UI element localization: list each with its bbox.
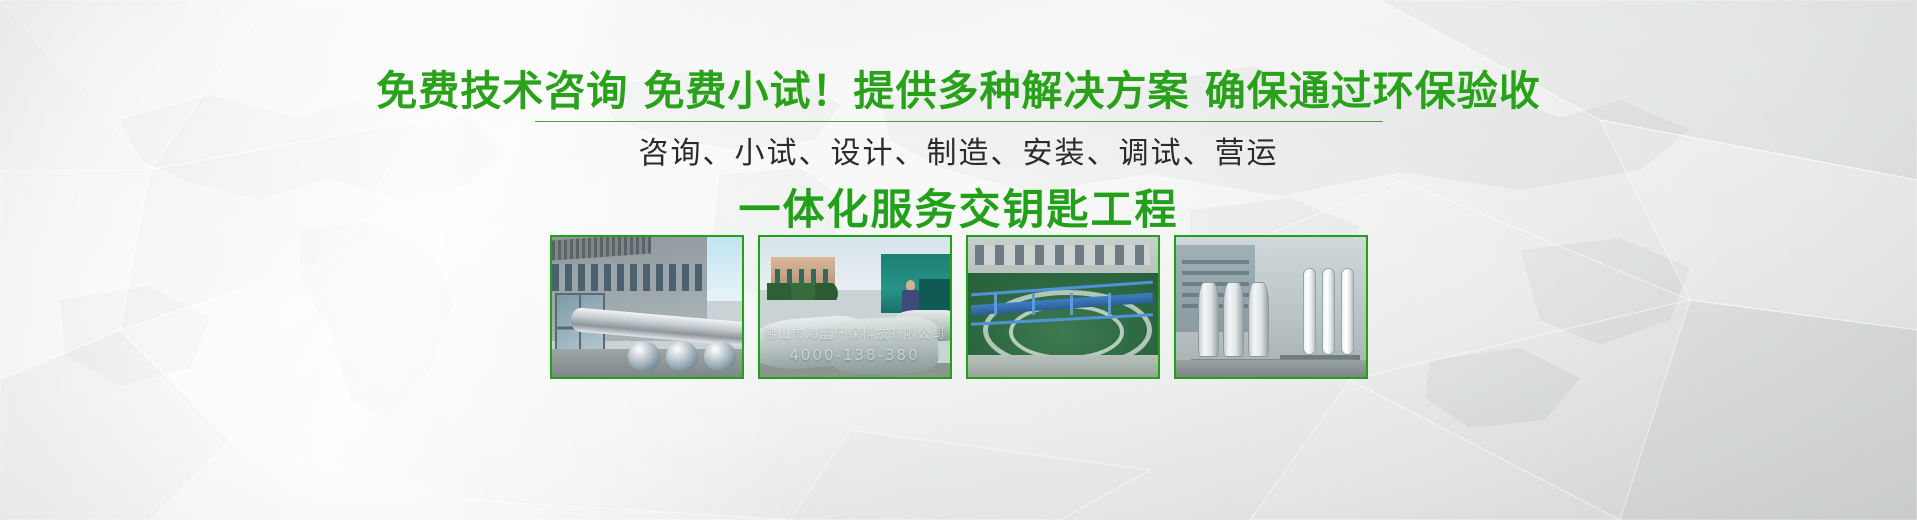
banner-headline: 免费技术咨询 免费小试！提供多种解决方案 确保通过环保验收 xyxy=(0,57,1917,117)
gallery-photo-4[interactable] xyxy=(1174,235,1368,379)
photo-2-scene xyxy=(760,237,950,377)
headline-divider xyxy=(535,121,1383,122)
gallery-photo-1[interactable] xyxy=(550,235,744,379)
banner-subline: 咨询、小试、设计、制造、安装、调试、营运 xyxy=(0,128,1917,172)
photo-4-scene xyxy=(1176,237,1366,377)
banner-slogan: 一体化服务交钥匙工程 xyxy=(0,176,1917,237)
gallery-photo-2[interactable]: 佛山市海蓝环保科技有限公司 4000-138-380 xyxy=(758,235,952,379)
photo-1-scene xyxy=(552,237,742,377)
photo-3-scene xyxy=(968,237,1158,377)
photo-gallery: 佛山市海蓝环保科技有限公司 4000-138-380 xyxy=(550,235,1368,379)
gallery-photo-3[interactable] xyxy=(966,235,1160,379)
banner-content: 免费技术咨询 免费小试！提供多种解决方案 确保通过环保验收 咨询、小试、设计、制… xyxy=(0,0,1917,520)
promo-banner: 免费技术咨询 免费小试！提供多种解决方案 确保通过环保验收 咨询、小试、设计、制… xyxy=(0,0,1917,520)
